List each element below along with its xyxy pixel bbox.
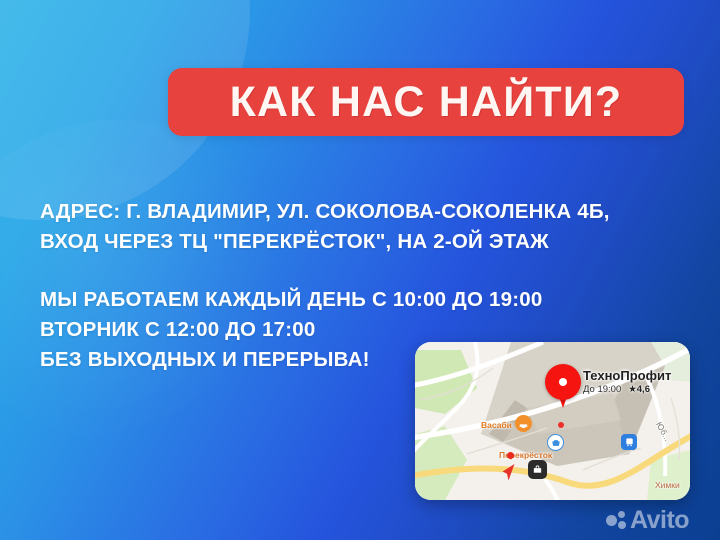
poi-rating: ★4,6: [628, 384, 650, 395]
hours-line-1: МЫ РАБОТАЕМ КАЖДЫЙ ДЕНЬ С 10:00 ДО 19:00: [40, 285, 542, 315]
poi-title: ТехноПрофит: [583, 369, 671, 383]
address-line-1: АДРЕС: Г. ВЛАДИМИР, УЛ. СОКОЛОВА-СОКОЛЕН…: [40, 197, 610, 227]
arrow-cursor-icon: [501, 462, 519, 484]
map-label-wasabi[interactable]: Васаби: [481, 420, 512, 430]
restaurant-icon[interactable]: [515, 415, 532, 432]
avito-logo-icon: [606, 511, 626, 531]
store-icon[interactable]: [528, 460, 547, 479]
decorative-glow: [0, 120, 300, 440]
avito-wordmark: Avito: [630, 508, 689, 533]
page-title: КАК НАС НАЙТИ?: [230, 81, 623, 124]
headline-banner: КАК НАС НАЙТИ?: [168, 68, 684, 136]
poi-callout[interactable]: ТехноПрофит До 19:00★4,6: [583, 369, 671, 395]
pin-center-dot: [559, 378, 567, 386]
shopping-basket-icon[interactable]: [547, 434, 564, 451]
pin-anchor-dot: [558, 422, 564, 428]
poi-subtitle: До 19:00★4,6: [583, 385, 671, 395]
hours-line-2: ВТОРНИК С 12:00 ДО 17:00: [40, 315, 542, 345]
transit-icon[interactable]: [621, 434, 637, 450]
address-line-2: ВХОД ЧЕРЕЗ ТЦ "ПЕРЕКРЁСТОК", НА 2-ОЙ ЭТА…: [40, 227, 610, 257]
location-pin-icon[interactable]: [545, 364, 581, 410]
poster-canvas: КАК НАС НАЙТИ? АДРЕС: Г. ВЛАДИМИР, УЛ. С…: [0, 0, 720, 540]
avito-watermark: Avito: [606, 508, 689, 533]
address-block: АДРЕС: Г. ВЛАДИМИР, УЛ. СОКОЛОВА-СОКОЛЕН…: [40, 197, 610, 257]
map-label-district: Химки: [655, 480, 680, 490]
map-card[interactable]: ТехноПрофит До 19:00★4,6 Васаби Перекрёс…: [415, 342, 690, 500]
poi-open-until: До 19:00: [583, 384, 621, 395]
map-dot-marker: [507, 452, 514, 459]
